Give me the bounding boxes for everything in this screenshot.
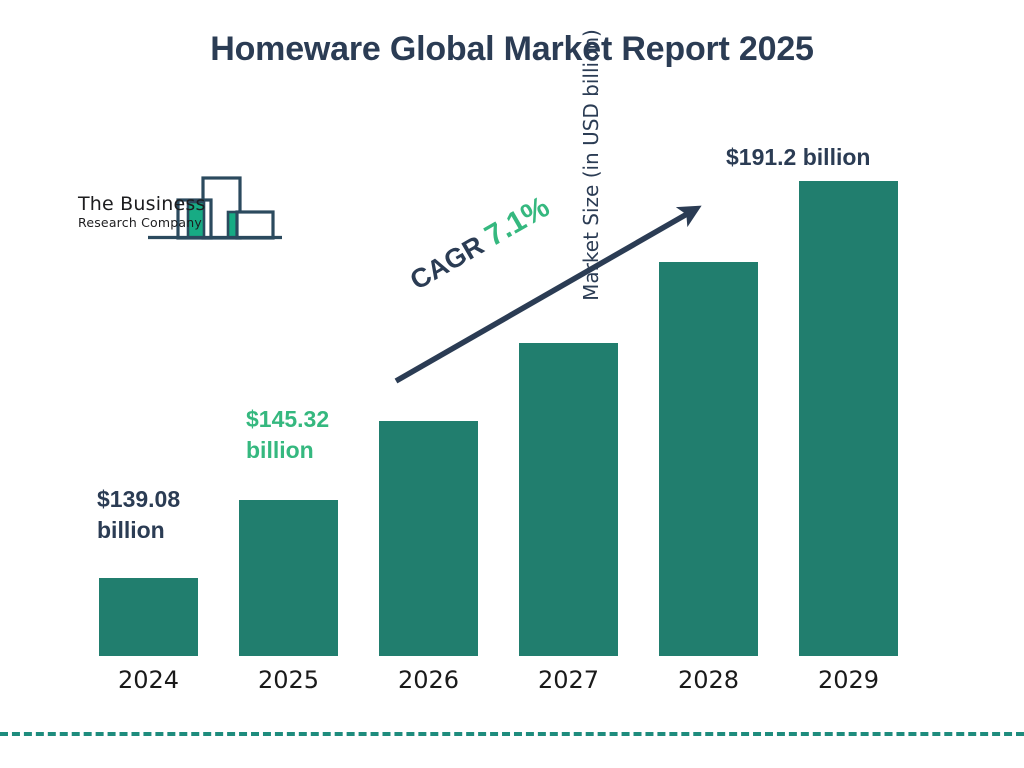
chart-plot-area: 2024 2025 2026 2027 2028 2029 $139.08 bi… — [0, 0, 1024, 768]
footer-divider — [0, 732, 1024, 736]
y-axis-title: Market Size (in USD billion) — [579, 0, 603, 330]
cagr-trend-arrow-icon — [0, 0, 1024, 768]
y-axis-title-text: Market Size (in USD billion) — [579, 0, 603, 330]
